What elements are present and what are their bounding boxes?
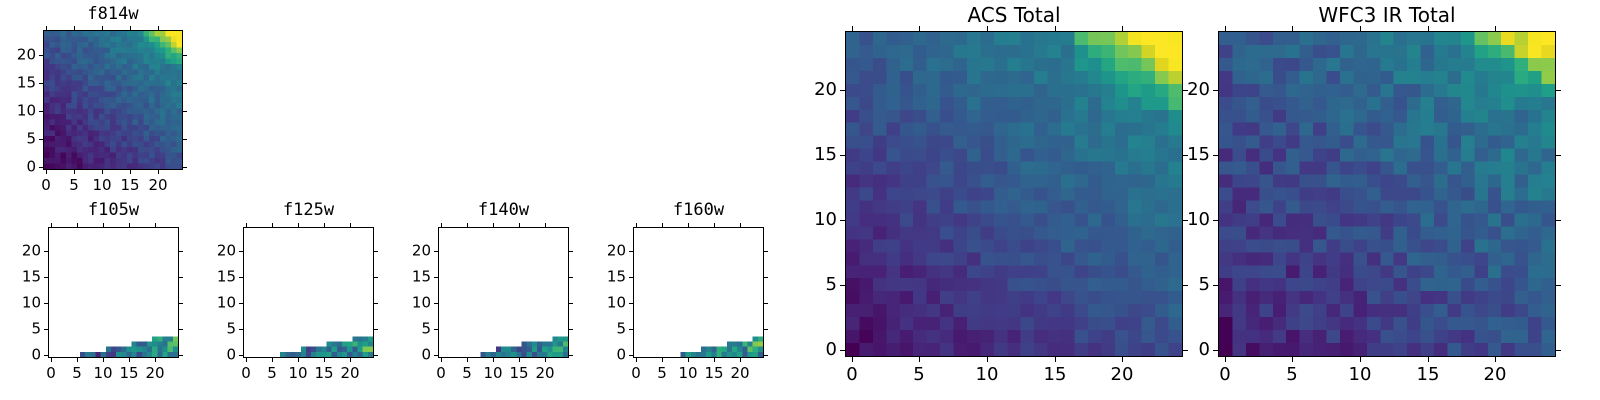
- ytick-right-f160w-0: [764, 355, 768, 356]
- yticklabel-acs_total-0: 0: [780, 339, 837, 361]
- xtick-f140w-0: [441, 358, 442, 362]
- xticklabel-f125w-4: 20: [340, 364, 359, 383]
- yticklabel-f140w-0: 0: [374, 346, 431, 365]
- yticklabel-f814w-2: 10: [0, 102, 36, 121]
- ytick-right-f125w-3: [374, 277, 378, 278]
- xticklabel-f125w-1: 5: [267, 364, 277, 383]
- xtick-f814w-1: [74, 170, 75, 174]
- xticklabel-f814w-0: 0: [41, 176, 51, 195]
- ytick-right-f105w-3: [179, 277, 183, 278]
- heatmap-canvas-f160w: [634, 228, 763, 357]
- panel-title-f105w: f105w: [48, 199, 179, 222]
- ytick-right-acs_total-0: [1183, 350, 1188, 351]
- yticklabel-f125w-2: 10: [179, 294, 236, 313]
- xticklabel-f125w-0: 0: [241, 364, 251, 383]
- yticklabel-f125w-3: 15: [179, 268, 236, 287]
- xtick-f125w-3: [324, 358, 325, 362]
- xticklabel-f125w-2: 10: [288, 364, 307, 383]
- yticklabel-acs_total-1: 5: [780, 274, 837, 296]
- yticklabel-f140w-4: 20: [374, 242, 431, 261]
- ytick-right-f814w-0: [183, 167, 187, 168]
- ytick-right-acs_total-1: [1183, 285, 1188, 286]
- xtick-wfc3_ir_total-2: [1360, 357, 1361, 362]
- ytick-right-f125w-2: [374, 303, 378, 304]
- yticklabel-acs_total-4: 20: [780, 79, 837, 101]
- ytick-right-f160w-4: [764, 251, 768, 252]
- ytick-right-f140w-3: [569, 277, 573, 278]
- panel-title-f125w: f125w: [243, 199, 374, 222]
- ytick-right-f105w-2: [179, 303, 183, 304]
- ytick-right-f160w-3: [764, 277, 768, 278]
- ytick-right-f160w-2: [764, 303, 768, 304]
- ytick-right-acs_total-2: [1183, 220, 1188, 221]
- xticklabel-f105w-3: 15: [119, 364, 138, 383]
- yticklabel-f160w-3: 15: [569, 268, 626, 287]
- yticklabel-f160w-2: 10: [569, 294, 626, 313]
- yticklabel-f814w-3: 15: [0, 74, 36, 93]
- xticklabel-f814w-4: 20: [148, 176, 167, 195]
- xticklabel-f140w-2: 10: [483, 364, 502, 383]
- xtick-f160w-1: [662, 358, 663, 362]
- yticklabel-f160w-4: 20: [569, 242, 626, 261]
- xticklabel-f105w-1: 5: [72, 364, 82, 383]
- xticklabel-wfc3_ir_total-0: 0: [1219, 364, 1230, 386]
- xtick-wfc3_ir_total-0: [1225, 357, 1226, 362]
- yticklabel-f105w-0: 0: [0, 346, 41, 365]
- xticklabel-wfc3_ir_total-4: 20: [1484, 364, 1507, 386]
- xticklabel-f814w-1: 5: [69, 176, 79, 195]
- ytick-right-wfc3_ir_total-2: [1556, 220, 1561, 221]
- plot-area-f105w[interactable]: [48, 227, 179, 358]
- xticklabel-f140w-4: 20: [535, 364, 554, 383]
- xtick-f125w-0: [246, 358, 247, 362]
- xticklabel-f140w-0: 0: [436, 364, 446, 383]
- yticklabel-f125w-0: 0: [179, 346, 236, 365]
- xtick-acs_total-3: [1055, 357, 1056, 362]
- xtick-acs_total-1: [919, 357, 920, 362]
- ytick-right-wfc3_ir_total-3: [1556, 155, 1561, 156]
- ytick-right-f814w-1: [183, 139, 187, 140]
- ytick-right-f105w-4: [179, 251, 183, 252]
- yticklabel-f140w-1: 5: [374, 320, 431, 339]
- panel-title-f814w: f814w: [43, 3, 183, 26]
- plot-area-acs_total[interactable]: [845, 31, 1183, 357]
- plot-area-f160w[interactable]: [633, 227, 764, 358]
- yticklabel-f160w-1: 5: [569, 320, 626, 339]
- xticklabel-f814w-3: 15: [120, 176, 139, 195]
- yticklabel-f105w-2: 10: [0, 294, 41, 313]
- xtick-f125w-1: [272, 358, 273, 362]
- xtick-f140w-2: [493, 358, 494, 362]
- ytick-right-f140w-4: [569, 251, 573, 252]
- yticklabel-f160w-0: 0: [569, 346, 626, 365]
- heatmap-canvas-f140w: [439, 228, 568, 357]
- yticklabel-f140w-2: 10: [374, 294, 431, 313]
- xticklabel-acs_total-1: 5: [913, 364, 924, 386]
- ytick-right-wfc3_ir_total-4: [1556, 90, 1561, 91]
- heatmap-canvas-f125w: [244, 228, 373, 357]
- xtick-f140w-1: [467, 358, 468, 362]
- xticklabel-f814w-2: 10: [92, 176, 111, 195]
- xtick-wfc3_ir_total-4: [1495, 357, 1496, 362]
- xticklabel-wfc3_ir_total-3: 15: [1417, 364, 1440, 386]
- plot-area-f814w[interactable]: [43, 30, 183, 170]
- panel-title-f160w: f160w: [633, 199, 764, 222]
- yticklabel-f105w-3: 15: [0, 268, 41, 287]
- panel-title-f140w: f140w: [438, 199, 569, 222]
- xticklabel-wfc3_ir_total-1: 5: [1286, 364, 1297, 386]
- panel-title-wfc3_ir_total: WFC3 IR Total: [1218, 2, 1556, 28]
- ytick-right-f160w-1: [764, 329, 768, 330]
- xtick-f814w-4: [158, 170, 159, 174]
- yticklabel-f814w-0: 0: [0, 158, 36, 177]
- ytick-right-f140w-2: [569, 303, 573, 304]
- yticklabel-f814w-4: 20: [0, 46, 36, 65]
- yticklabel-f140w-3: 15: [374, 268, 431, 287]
- xticklabel-acs_total-2: 10: [976, 364, 999, 386]
- xtick-f140w-3: [519, 358, 520, 362]
- xticklabel-f125w-3: 15: [314, 364, 333, 383]
- ytick-right-f125w-1: [374, 329, 378, 330]
- xticklabel-f105w-2: 10: [93, 364, 112, 383]
- yticklabel-acs_total-2: 10: [780, 209, 837, 231]
- xticklabel-f105w-4: 20: [145, 364, 164, 383]
- xticklabel-f160w-1: 5: [657, 364, 667, 383]
- xtick-f814w-0: [46, 170, 47, 174]
- xticklabel-f160w-3: 15: [704, 364, 723, 383]
- yticklabel-f814w-1: 5: [0, 130, 36, 149]
- xticklabel-acs_total-3: 15: [1044, 364, 1067, 386]
- xtick-f160w-3: [714, 358, 715, 362]
- ytick-right-f140w-0: [569, 355, 573, 356]
- xticklabel-acs_total-0: 0: [846, 364, 857, 386]
- heatmap-canvas-acs_total: [846, 32, 1182, 356]
- xtick-f105w-1: [77, 358, 78, 362]
- xtick-f125w-2: [298, 358, 299, 362]
- yticklabel-f105w-4: 20: [0, 242, 41, 261]
- xticklabel-acs_total-4: 20: [1111, 364, 1134, 386]
- yticklabel-acs_total-3: 15: [780, 144, 837, 166]
- heatmap-canvas-wfc3_ir_total: [1219, 32, 1555, 356]
- xtick-f160w-4: [740, 358, 741, 362]
- panel-wfc3_ir_total: WFC3 IR Total0510152005101520: [0, 0, 1600, 400]
- ytick-right-f125w-4: [374, 251, 378, 252]
- xticklabel-f140w-3: 15: [509, 364, 528, 383]
- yticklabel-f125w-1: 5: [179, 320, 236, 339]
- xtick-acs_total-4: [1122, 357, 1123, 362]
- panel-title-acs_total: ACS Total: [845, 2, 1183, 28]
- xtick-f105w-0: [51, 358, 52, 362]
- ytick-right-f105w-1: [179, 329, 183, 330]
- plot-area-f140w[interactable]: [438, 227, 569, 358]
- ytick-right-f105w-0: [179, 355, 183, 356]
- xticklabel-f105w-0: 0: [46, 364, 56, 383]
- xtick-f160w-2: [688, 358, 689, 362]
- xtick-f105w-2: [103, 358, 104, 362]
- xtick-f125w-4: [350, 358, 351, 362]
- xticklabel-f140w-1: 5: [462, 364, 472, 383]
- ytick-right-f814w-4: [183, 55, 187, 56]
- ytick-right-f140w-1: [569, 329, 573, 330]
- xticklabel-f160w-4: 20: [730, 364, 749, 383]
- plot-area-f125w[interactable]: [243, 227, 374, 358]
- yticklabel-f125w-4: 20: [179, 242, 236, 261]
- yticklabel-f105w-1: 5: [0, 320, 41, 339]
- ytick-right-f125w-0: [374, 355, 378, 356]
- xticklabel-f160w-0: 0: [631, 364, 641, 383]
- xtick-f814w-3: [130, 170, 131, 174]
- xtick-f105w-3: [129, 358, 130, 362]
- xtick-f140w-4: [545, 358, 546, 362]
- xtick-acs_total-0: [852, 357, 853, 362]
- ytick-right-wfc3_ir_total-1: [1556, 285, 1561, 286]
- ytick-right-acs_total-4: [1183, 90, 1188, 91]
- ytick-right-acs_total-3: [1183, 155, 1188, 156]
- ytick-right-f814w-2: [183, 111, 187, 112]
- heatmap-canvas-f105w: [49, 228, 178, 357]
- xtick-f105w-4: [155, 358, 156, 362]
- xtick-wfc3_ir_total-3: [1428, 357, 1429, 362]
- xticklabel-f160w-2: 10: [678, 364, 697, 383]
- ytick-right-f814w-3: [183, 83, 187, 84]
- xtick-f160w-0: [636, 358, 637, 362]
- plot-area-wfc3_ir_total[interactable]: [1218, 31, 1556, 357]
- xtick-acs_total-2: [987, 357, 988, 362]
- xtick-f814w-2: [102, 170, 103, 174]
- ytick-right-wfc3_ir_total-0: [1556, 350, 1561, 351]
- xtick-wfc3_ir_total-1: [1292, 357, 1293, 362]
- xticklabel-wfc3_ir_total-2: 10: [1349, 364, 1372, 386]
- heatmap-canvas-f814w: [44, 31, 182, 169]
